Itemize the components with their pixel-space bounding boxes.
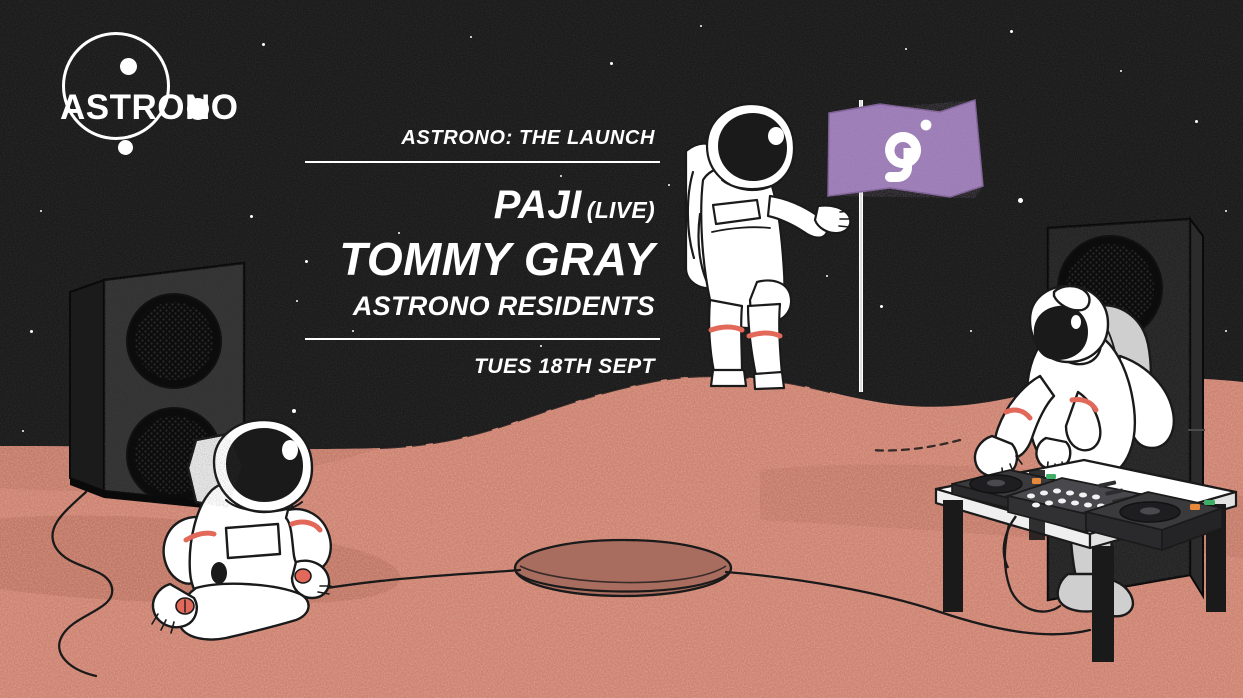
headliner-name: PAJI: [494, 183, 582, 227]
event-poster: ASTRONO ASTRONO: THE LAUNCH PAJI(LIVE) T…: [0, 0, 1243, 698]
orbit-dot-bottom-icon: [118, 140, 133, 155]
astrono-logo[interactable]: ASTRONO: [50, 26, 215, 146]
orbit-dot-top-icon: [120, 58, 137, 75]
headliner-row: PAJI(LIVE): [235, 185, 660, 225]
headliner-tag: (LIVE): [587, 197, 655, 223]
divider-bottom: [305, 338, 660, 340]
flag-astronaut: [686, 104, 851, 389]
residents-act: ASTRONO RESIDENTS: [235, 293, 660, 320]
support-act: TOMMY GRAY: [235, 236, 660, 282]
lineup-panel: ASTRONO: THE LAUNCH PAJI(LIVE) TOMMY GRA…: [235, 128, 660, 379]
event-date: TUES 18TH SEPT: [235, 355, 660, 379]
divider-top: [305, 161, 660, 163]
flag: [820, 92, 1000, 210]
flag-assembly: [820, 92, 1000, 392]
event-title: ASTRONO: THE LAUNCH: [235, 128, 660, 148]
logo-wordmark: ASTRONO: [60, 88, 239, 128]
crater: [515, 540, 731, 596]
